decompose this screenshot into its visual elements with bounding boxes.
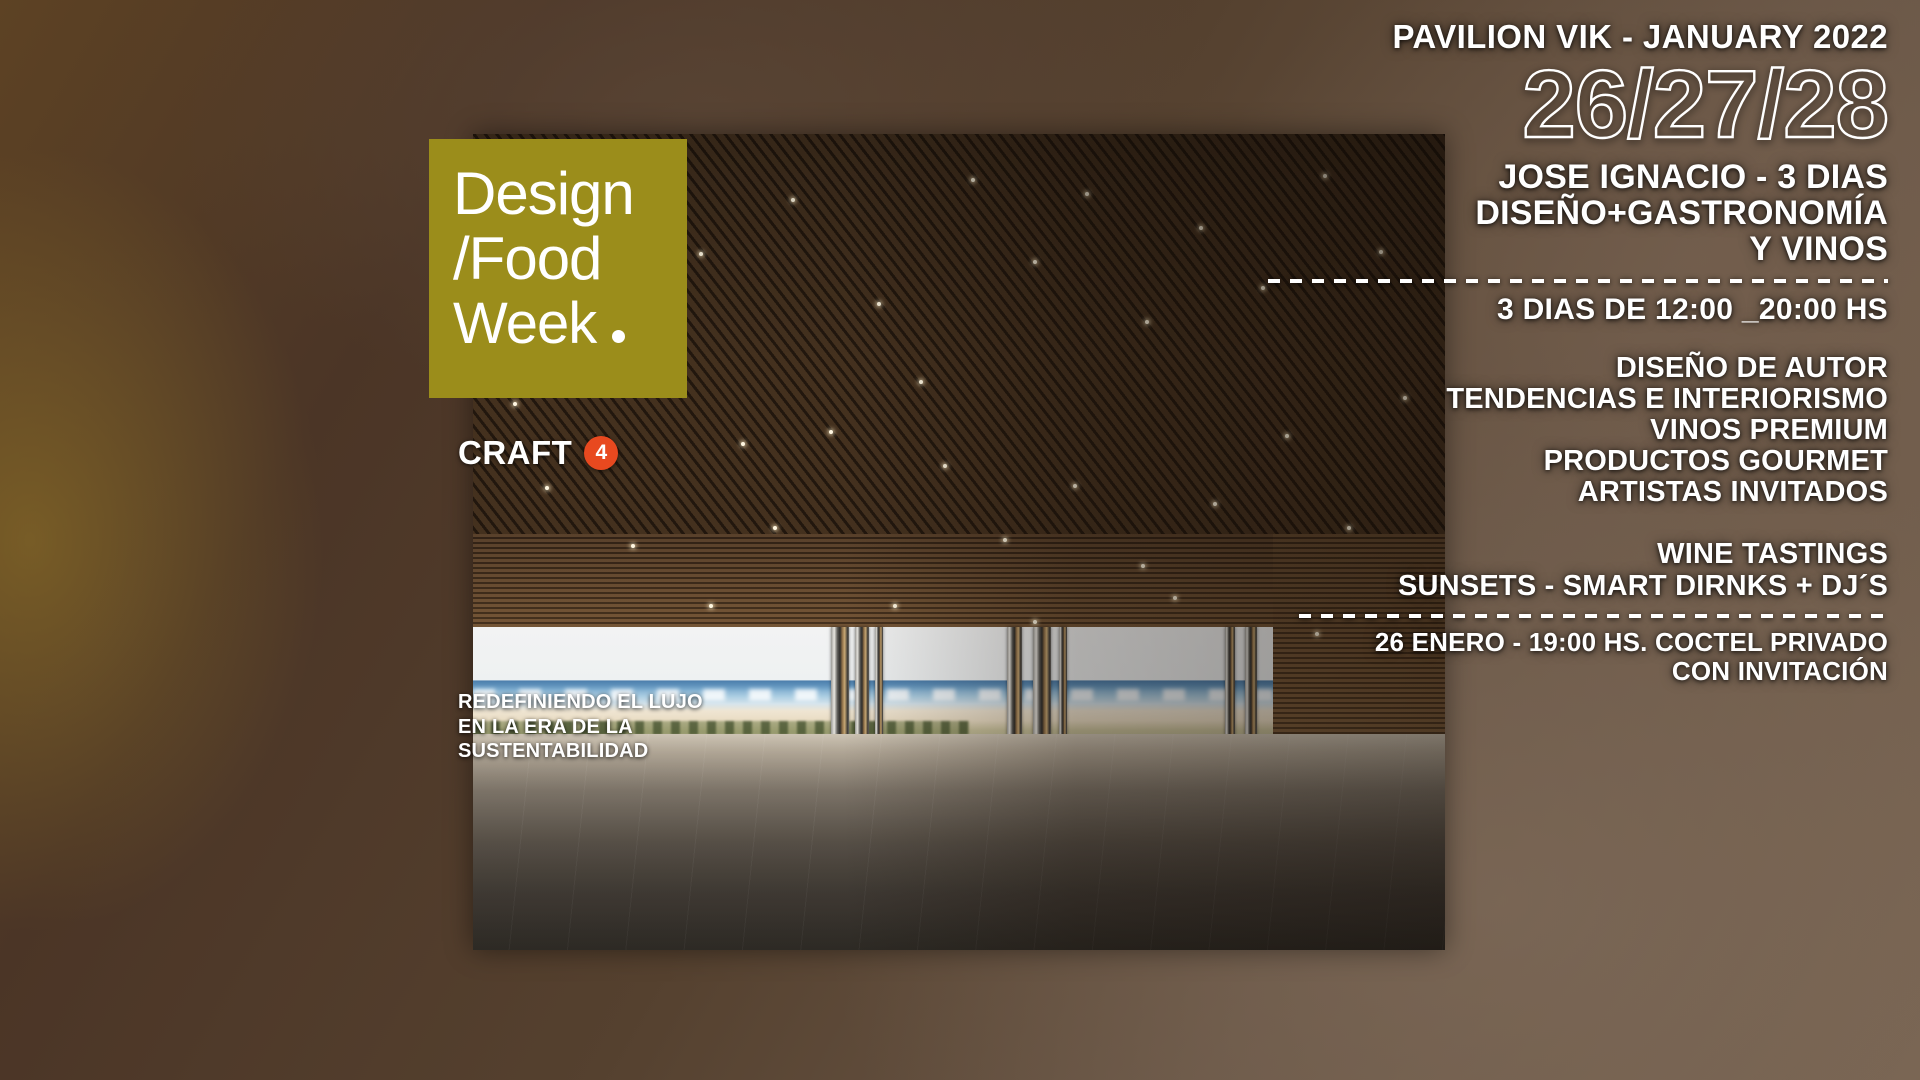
- extras-line-2: SUNSETS - SMART DIRNKS + DJ´S: [1268, 570, 1888, 602]
- program-item: VINOS PREMIUM: [1268, 415, 1888, 446]
- craft-number-badge: 4: [584, 436, 618, 470]
- footer-line-2: CON INVITACIÓN: [1268, 657, 1888, 686]
- footer-line-1: 26 ENERO - 19:00 HS. COCTEL PRIVADO: [1268, 628, 1888, 657]
- period-dot-icon: [612, 330, 625, 343]
- brand-line-3: Week: [453, 291, 677, 356]
- brand-olive-square: Design /Food Week: [429, 139, 687, 398]
- program-item: DISEÑO DE AUTOR: [1268, 353, 1888, 384]
- program-item: ARTISTAS INVITADOS: [1268, 477, 1888, 508]
- brand-wordmark: Design /Food Week: [453, 161, 677, 356]
- program-list: DISEÑO DE AUTOR TENDENCIAS E INTERIORISM…: [1268, 353, 1888, 508]
- brand-line-3-text: Week: [453, 291, 596, 356]
- program-item: TENDENCIAS E INTERIORISMO: [1268, 384, 1888, 415]
- brand-line-1: Design: [453, 161, 677, 226]
- tagline-line-3: SUSTENTABILIDAD: [458, 739, 703, 764]
- event-dates: 26/27/28: [1268, 57, 1888, 153]
- craft-label: CRAFT: [458, 434, 572, 472]
- event-headline: JOSE IGNACIO - 3 DIAS DISEÑO+GASTRONOMÍA…: [1268, 159, 1888, 267]
- sustainability-tagline: REDEFINIENDO EL LUJO EN LA ERA DE LA SUS…: [458, 690, 703, 764]
- event-info-column: PAVILION VIK - JANUARY 2022 26/27/28 JOS…: [1268, 18, 1888, 686]
- extras-block: WINE TASTINGS SUNSETS - SMART DIRNKS + D…: [1268, 538, 1888, 602]
- craft-lockup: CRAFT 4: [458, 434, 618, 472]
- headline-line-1: JOSE IGNACIO - 3 DIAS: [1268, 159, 1888, 195]
- headline-line-2: DISEÑO+GASTRONOMÍA: [1268, 195, 1888, 231]
- tagline-line-2: EN LA ERA DE LA: [458, 715, 703, 740]
- extras-line-1: WINE TASTINGS: [1268, 538, 1888, 570]
- opening-hours: 3 DIAS DE 12:00 _20:00 HS: [1268, 293, 1888, 327]
- tagline-line-1: REDEFINIENDO EL LUJO: [458, 690, 703, 715]
- headline-line-3: Y VINOS: [1268, 231, 1888, 267]
- private-cocktail-note: 26 ENERO - 19:00 HS. COCTEL PRIVADO CON …: [1268, 628, 1888, 686]
- brand-line-2: /Food: [453, 226, 677, 291]
- divider-top: [1268, 279, 1888, 283]
- program-item: PRODUCTOS GOURMET: [1268, 446, 1888, 477]
- divider-bottom: [1299, 614, 1888, 618]
